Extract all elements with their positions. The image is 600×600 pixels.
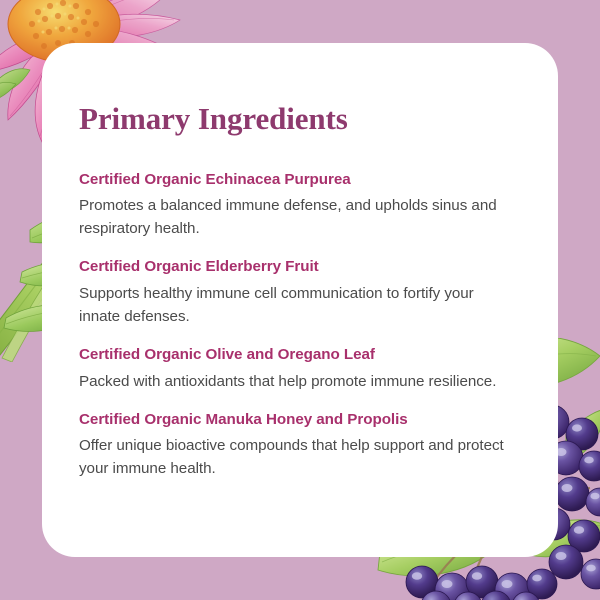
ingredient-description: Packed with antioxidants that help promo… xyxy=(79,370,511,393)
ingredient-name: Certified Organic Elderberry Fruit xyxy=(79,257,528,278)
ingredient-item: Certified Organic Echinacea Purpurea Pro… xyxy=(79,170,528,241)
ingredient-description: Promotes a balanced immune defense, and … xyxy=(79,194,511,240)
ingredient-name: Certified Organic Olive and Oregano Leaf xyxy=(79,345,528,366)
page-title: Primary Ingredients xyxy=(79,101,528,137)
ingredient-description: Offer unique bioactive compounds that he… xyxy=(79,434,511,480)
ingredient-description: Supports healthy immune cell communicati… xyxy=(79,282,511,328)
ingredient-name: Certified Organic Echinacea Purpurea xyxy=(79,170,528,191)
ingredients-card: Primary Ingredients Certified Organic Ec… xyxy=(42,43,558,557)
ingredient-item: Certified Organic Olive and Oregano Leaf… xyxy=(79,345,528,393)
card-content: Primary Ingredients Certified Organic Ec… xyxy=(79,101,528,480)
ingredient-item: Certified Organic Manuka Honey and Propo… xyxy=(79,410,528,481)
ingredient-item: Certified Organic Elderberry Fruit Suppo… xyxy=(79,257,528,328)
ingredient-name: Certified Organic Manuka Honey and Propo… xyxy=(79,410,528,431)
